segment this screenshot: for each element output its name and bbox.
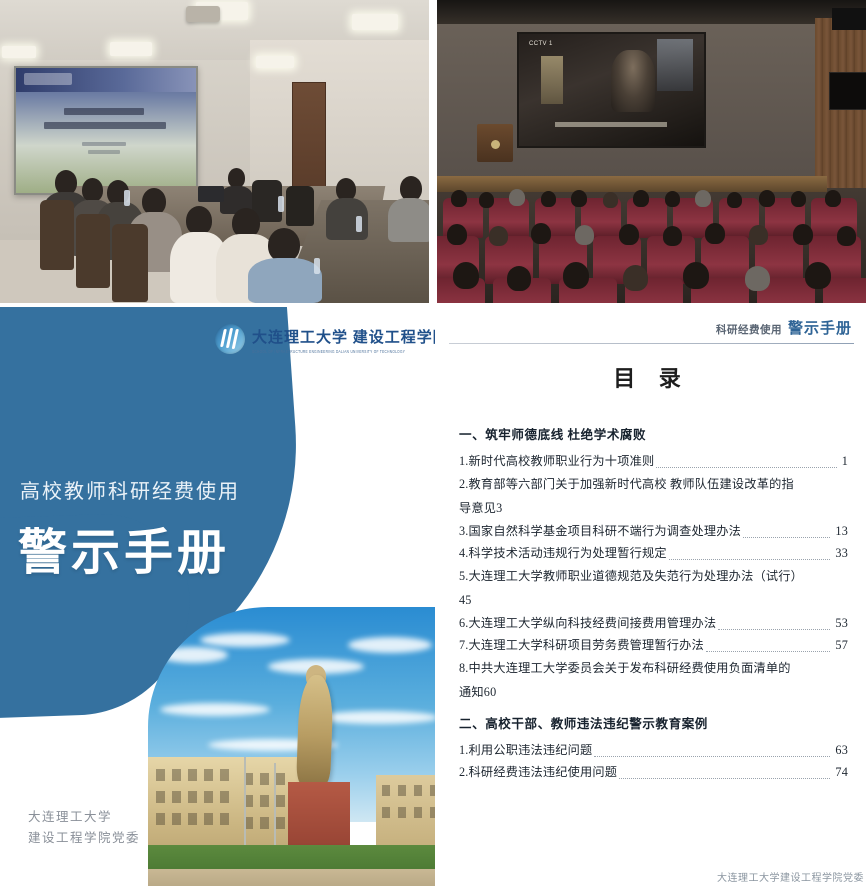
toc-entry[interactable]: 5.大连理工大学教师职业道德规范及失范行为处理办法（试行） 45 xyxy=(459,564,848,612)
toc-entry[interactable]: 4.科学技术活动违规行为处理暂行规定 33 xyxy=(459,542,848,564)
plaza-ground xyxy=(148,869,435,886)
toc-leader-dots xyxy=(706,641,831,652)
page-title: 目 录 xyxy=(437,361,866,393)
toc-entry-text: 5.大连理工大学教师职业道德规范及失范行为处理办法（试行） xyxy=(459,564,848,588)
slide-title-line2 xyxy=(44,122,166,129)
toc-entry-text: 1.新时代高校教师职业行为十项准则 xyxy=(459,450,654,472)
toc-entry-text: 2.教育部等六部门关于加强新时代高校 教师队伍建设改革的指 xyxy=(459,472,848,496)
podium-emblem xyxy=(491,140,500,149)
attendee-head xyxy=(186,206,212,235)
toc-entry-text: 4.科学技术活动违规行为处理暂行规定 xyxy=(459,542,667,564)
slide-subtitle-2 xyxy=(88,150,120,154)
office-chair xyxy=(286,186,314,226)
toc-entry-page: 1 xyxy=(840,450,848,472)
cover-title: 警示手册 xyxy=(18,513,230,584)
side-monitor xyxy=(829,72,866,110)
toc-entry-page: 63 xyxy=(833,739,848,761)
cover-footer-line2: 建设工程学院党委 xyxy=(28,828,140,849)
slide-subtitle xyxy=(82,142,126,146)
toc-entry-text: 7.大连理工大学科研项目劳务费管理暂行办法 xyxy=(459,634,704,656)
toc-leader-dots xyxy=(619,768,830,779)
screen-column xyxy=(541,56,563,104)
handbook-cover: 大连理工大学 建设工程学院 SCHOOL OF INFRASTRUCTURE E… xyxy=(0,307,435,886)
ceiling-light xyxy=(110,42,152,56)
attendee-body xyxy=(248,258,322,303)
toc-entry-text: 2.科研经费违法违纪使用问题 xyxy=(459,761,617,783)
toc-entry[interactable]: 8.中共大连理工大学委员会关于发布科研经费使用负面清单的 通知 60 xyxy=(459,656,848,704)
toc-entry-text-cont: 导意见 xyxy=(459,496,496,520)
toc-entry[interactable]: 6.大连理工大学纵向科技经费间接费用管理办法 53 xyxy=(459,612,848,634)
water-bottle xyxy=(314,258,320,274)
table-of-contents-page: 科研经费使用 警示手册 目 录 一、筑牢师德底线 杜绝学术腐败 1.新时代高校教… xyxy=(437,307,866,886)
logo-text: 大连理工大学 建设工程学院 SCHOOL OF INFRASTRUCTURE E… xyxy=(252,326,435,353)
university-logo: 大连理工大学 建设工程学院 SCHOOL OF INFRASTRUCTURE E… xyxy=(215,324,435,354)
toc-entry-text: 8.中共大连理工大学委员会关于发布科研经费使用负面清单的 xyxy=(459,656,848,680)
toc-entry[interactable]: 1.新时代高校教师职业行为十项准则 1 xyxy=(459,450,848,472)
toc-list: 一、筑牢师德底线 杜绝学术腐败 1.新时代高校教师职业行为十项准则 1 2.教育… xyxy=(459,415,848,783)
toc-entry-page: 33 xyxy=(833,542,848,564)
toc-entry[interactable]: 2.科研经费违法违纪使用问题 74 xyxy=(459,761,848,783)
cover-footer-line1: 大连理工大学 xyxy=(28,807,140,828)
water-bottle xyxy=(278,196,284,212)
toc-section-heading: 一、筑牢师德底线 杜绝学术腐败 xyxy=(459,424,848,443)
toc-entry-text: 1.利用公职违法违纪问题 xyxy=(459,739,592,761)
toc-section-heading: 二、高校干部、教师违法违纪警示教育案例 xyxy=(459,713,848,732)
attendee-head xyxy=(142,188,166,215)
toc-leader-dots xyxy=(669,549,831,560)
page-header: 科研经费使用 警示手册 xyxy=(716,317,852,338)
slide-logo xyxy=(24,73,72,85)
attendee-head xyxy=(82,178,103,202)
channel-label: CCTV 1 xyxy=(529,41,553,47)
projector xyxy=(186,6,220,22)
chair xyxy=(40,200,74,270)
podium xyxy=(477,124,513,162)
toc-entry-page: 53 xyxy=(833,612,848,634)
screen-person xyxy=(611,50,655,112)
speaker-head xyxy=(228,168,245,188)
attendee-body xyxy=(388,198,429,242)
toc-entry-page: 45 xyxy=(459,588,472,612)
slide-title-line1 xyxy=(64,108,144,115)
cover-subtitle: 高校教师科研经费使用 xyxy=(20,475,240,504)
projection-screen: CCTV 1 xyxy=(517,32,706,148)
toc-entry[interactable]: 1.利用公职违法违纪问题 63 xyxy=(459,739,848,761)
ceiling-light xyxy=(256,56,294,68)
water-bottle xyxy=(356,216,362,232)
water-bottle xyxy=(124,190,130,206)
chair xyxy=(112,224,148,302)
slide-header-bar xyxy=(16,68,196,92)
attendee-head xyxy=(268,228,300,262)
auditorium-photo: CCTV 1 xyxy=(437,0,866,303)
toc-entry[interactable]: 2.教育部等六部门关于加强新时代高校 教师队伍建设改革的指 导意见 3 xyxy=(459,472,848,520)
toc-entry-text: 3.国家自然科学基金项目科研不端行为调查处理办法 xyxy=(459,520,741,542)
header-title: 警示手册 xyxy=(788,317,852,338)
toc-entry[interactable]: 7.大连理工大学科研项目劳务费管理暂行办法 57 xyxy=(459,634,848,656)
toc-leader-dots xyxy=(656,457,836,468)
logo-english-name: SCHOOL OF INFRASTRUCTURE ENGINEERING DAL… xyxy=(252,349,435,355)
watermark: 大连理工大学建设工程学院党委 xyxy=(717,869,864,884)
campus-photo xyxy=(148,607,435,886)
projection-screen xyxy=(14,66,198,195)
ceiling-light xyxy=(2,46,36,58)
ceiling-light xyxy=(352,14,398,30)
chair xyxy=(76,214,110,288)
cover-footer: 大连理工大学 建设工程学院党委 xyxy=(28,807,140,849)
toc-leader-dots xyxy=(594,746,830,757)
meeting-room-photo xyxy=(0,0,429,303)
toc-leader-dots xyxy=(718,619,830,630)
toc-leader-dots xyxy=(743,527,830,538)
toc-entry-page: 57 xyxy=(833,634,848,656)
toc-entry-text-cont: 通知 xyxy=(459,680,484,704)
toc-entry-page: 13 xyxy=(833,520,848,542)
door xyxy=(292,82,326,194)
toc-entry-page: 3 xyxy=(496,496,502,520)
dut-emblem-icon xyxy=(215,324,245,354)
toc-entry-page: 60 xyxy=(484,680,497,704)
laptop xyxy=(198,186,224,202)
header-small-text: 科研经费使用 xyxy=(716,322,782,337)
toc-entry-page: 74 xyxy=(833,761,848,783)
screen-light xyxy=(657,39,693,91)
page-root: CCTV 1 xyxy=(0,0,866,886)
side-speaker xyxy=(832,8,866,30)
screen-subtitle xyxy=(555,122,667,127)
header-rule xyxy=(449,343,854,344)
toc-entry[interactable]: 3.国家自然科学基金项目科研不端行为调查处理办法 13 xyxy=(459,520,848,542)
logo-chinese-name: 大连理工大学 建设工程学院 xyxy=(252,326,435,347)
toc-entry-text: 6.大连理工大学纵向科技经费间接费用管理办法 xyxy=(459,612,716,634)
